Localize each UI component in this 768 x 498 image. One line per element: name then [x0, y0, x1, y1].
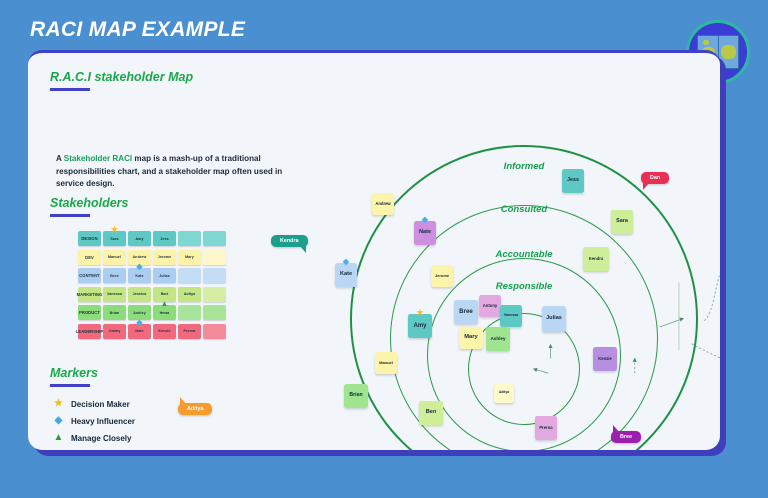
stakeholder-note[interactable]: Hewa▲ — [153, 305, 176, 320]
map-note[interactable]: Ashley — [486, 327, 510, 351]
desc-prefix: A — [56, 154, 64, 163]
map-note[interactable]: Julias — [542, 306, 566, 332]
section-title-markers: Markers — [50, 366, 98, 380]
stakeholder-note[interactable]: Brian — [103, 305, 126, 320]
map-note[interactable]: Jerome — [431, 265, 453, 287]
stakeholder-note[interactable]: Sara★ — [103, 231, 126, 246]
page-title: RACI MAP EXAMPLE — [30, 18, 245, 42]
section-header-stakeholders: Stakeholders — [50, 196, 129, 217]
stakeholder-note[interactable]: Kenzie — [153, 324, 176, 339]
ring-label-consulted: Consulted — [501, 204, 547, 215]
star-icon: ★ — [111, 226, 118, 234]
map-note[interactable]: Manuel — [375, 352, 397, 374]
ring-label-responsible: Responsible — [496, 281, 553, 292]
description-text: A Stakeholder RACI map is a mash-up of a… — [56, 153, 306, 191]
stakeholder-row-label: MARKETING — [78, 287, 101, 302]
diamond-icon: ◆ — [53, 416, 64, 426]
map-note[interactable]: Andrew — [372, 193, 394, 215]
stakeholder-note-empty[interactable] — [203, 250, 226, 265]
section-rule — [50, 214, 90, 217]
stakeholder-note-empty[interactable] — [178, 268, 201, 283]
stakeholder-row-label: CONTENT — [78, 268, 101, 283]
callout-tail-icon — [613, 425, 620, 433]
map-note[interactable]: Brian — [344, 384, 368, 408]
stakeholder-note-empty[interactable] — [203, 268, 226, 283]
diamond-icon: ◆ — [136, 263, 142, 271]
map-note[interactable]: Sara — [611, 210, 633, 234]
stakeholder-note[interactable]: Prerna — [178, 324, 201, 339]
stakeholder-row-label: DESIGN — [78, 231, 101, 246]
main-card: R.A.C.I stakeholder Map A Stakeholder RA… — [28, 50, 720, 450]
star-icon: ★ — [416, 309, 423, 317]
ring-label-informed: Informed — [504, 161, 545, 172]
callout-tail-icon — [299, 245, 306, 253]
stakeholder-note[interactable]: Jimmy — [103, 324, 126, 339]
stakeholder-note[interactable]: Jerome — [153, 250, 176, 265]
callout-tail-icon — [180, 397, 187, 405]
desc-highlight: Stakeholder RACI — [64, 154, 132, 163]
stakeholder-note-empty[interactable] — [178, 231, 201, 246]
stakeholder-note[interactable]: Mary — [178, 250, 201, 265]
markers-legend: ★Decision Maker◆Heavy Influencer▲Manage … — [53, 399, 135, 450]
star-icon: ★ — [53, 399, 64, 409]
triangle-icon: ▲ — [53, 433, 64, 443]
map-callout[interactable]: Kendra — [271, 235, 308, 247]
legend-label: Manage Closely — [71, 434, 131, 443]
stakeholder-row-label: PRODUCT — [78, 305, 101, 320]
stakeholder-note[interactable]: Manuel — [103, 250, 126, 265]
legend-label: Decision Maker — [71, 400, 130, 409]
map-note[interactable]: Kenzie — [593, 347, 617, 371]
stakeholder-note[interactable]: Bree — [103, 268, 126, 283]
stakeholder-note-empty[interactable] — [203, 231, 226, 246]
stakeholder-note-empty[interactable] — [203, 324, 226, 339]
section-header-raci: R.A.C.I stakeholder Map — [50, 70, 193, 91]
map-note[interactable]: Vanessa — [500, 305, 522, 327]
stakeholder-note[interactable]: Aditya — [178, 287, 201, 302]
raci-map-page: RACI MAP EXAMPLE R.A.C.I stakeholder Map… — [0, 0, 768, 498]
map-callout[interactable]: Aditya — [178, 403, 212, 415]
section-title-stakeholders: Stakeholders — [50, 196, 129, 210]
diamond-icon: ◆ — [422, 216, 428, 224]
map-callout[interactable]: Dan — [641, 172, 669, 184]
section-rule — [50, 88, 90, 91]
stakeholder-note[interactable]: Kate◆ — [128, 268, 151, 283]
map-note[interactable]: Nate◆ — [414, 221, 436, 245]
map-note[interactable]: Aditya — [494, 383, 514, 403]
map-note[interactable]: Prerna — [535, 416, 557, 440]
section-rule — [50, 384, 90, 387]
stakeholder-note[interactable]: Jess — [153, 231, 176, 246]
map-note[interactable]: Amy★ — [408, 314, 432, 338]
map-note[interactable]: Mary — [459, 327, 483, 349]
triangle-icon: ▲ — [520, 449, 528, 450]
legend-label: Heavy Influencer — [71, 417, 135, 426]
stakeholder-note-empty[interactable] — [178, 305, 201, 320]
stakeholder-row-label: DEV — [78, 250, 101, 265]
stakeholder-note[interactable]: Julias — [153, 268, 176, 283]
map-callout[interactable]: Bree — [611, 431, 641, 443]
diamond-icon: ◆ — [136, 319, 142, 327]
stakeholder-note[interactable]: Amy — [128, 231, 151, 246]
map-note[interactable]: Bree — [454, 300, 478, 324]
map-note[interactable]: Ben — [419, 401, 443, 425]
triangle-icon: ▲ — [160, 300, 168, 308]
map-note[interactable]: Jess — [562, 169, 584, 193]
ring-label-accountable: Accountable — [495, 249, 552, 260]
stakeholder-grid: DESIGNSara★AmyJessDEVManuelAndrewJeromeM… — [78, 231, 226, 339]
stakeholder-note[interactable]: Jessica — [128, 287, 151, 302]
section-header-markers: Markers — [50, 366, 98, 387]
stakeholder-note-empty[interactable] — [203, 305, 226, 320]
diamond-icon: ◆ — [343, 258, 349, 266]
stakeholder-note-empty[interactable] — [203, 287, 226, 302]
legend-row: ★Decision Maker — [53, 399, 135, 409]
map-note[interactable]: Antony — [479, 295, 501, 317]
section-title-raci: R.A.C.I stakeholder Map — [50, 70, 193, 84]
legend-row: ◆Heavy Influencer — [53, 416, 135, 426]
stakeholder-note[interactable]: Vanessa — [103, 287, 126, 302]
callout-tail-icon — [643, 182, 650, 190]
map-note[interactable]: Kendra — [583, 247, 609, 271]
stakeholder-note[interactable]: Nate◆ — [128, 324, 151, 339]
stakeholder-row-label: LEADERSHIP — [78, 324, 101, 339]
map-note[interactable]: Kate◆ — [335, 263, 357, 287]
legend-row: ▲Manage Closely — [53, 433, 135, 443]
